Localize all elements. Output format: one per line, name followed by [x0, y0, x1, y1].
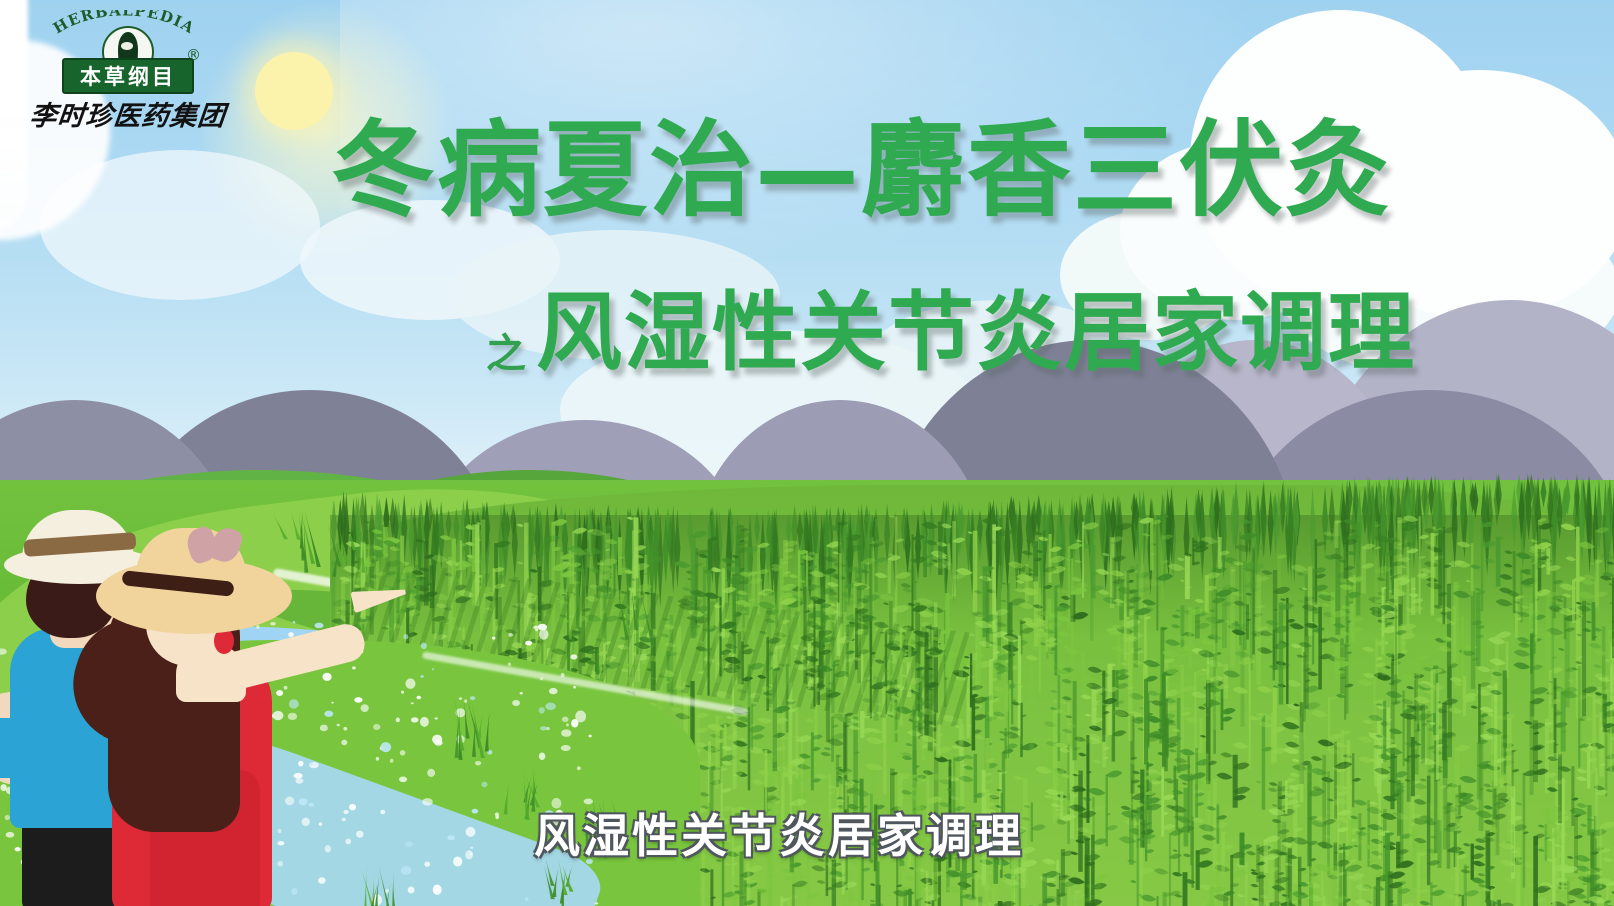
woman-hat-brim [96, 558, 292, 634]
video-frame: HERBALPEDIA ® 本草纲目 李时珍医药集团 冬病夏治—麝香三伏灸 之 … [0, 0, 1614, 906]
sun-icon [255, 52, 333, 130]
man-sleeve [0, 718, 26, 778]
woman-hat-bow [188, 526, 244, 564]
logo-plaque: 本草纲目 [62, 58, 194, 94]
page-title: 冬病夏治—麝香三伏灸 [331, 112, 1391, 228]
video-caption: 风湿性关节炎居家调理 [0, 800, 1586, 866]
subtitle-connector: 之 [486, 321, 526, 387]
bow-right-loop [207, 525, 244, 566]
woman-pointing-hand [350, 581, 407, 614]
logo-plaque-text: 本草纲目 [80, 61, 176, 91]
brand-logo: HERBALPEDIA ® 本草纲目 李时珍医药集团 [24, 8, 224, 128]
subtitle-text: 风湿性关节炎居家调理 [536, 262, 1416, 387]
page-subtitle: 之 风湿性关节炎居家调理 [486, 262, 1416, 387]
company-name-calligraphy: 李时珍医药集团 [28, 94, 232, 133]
